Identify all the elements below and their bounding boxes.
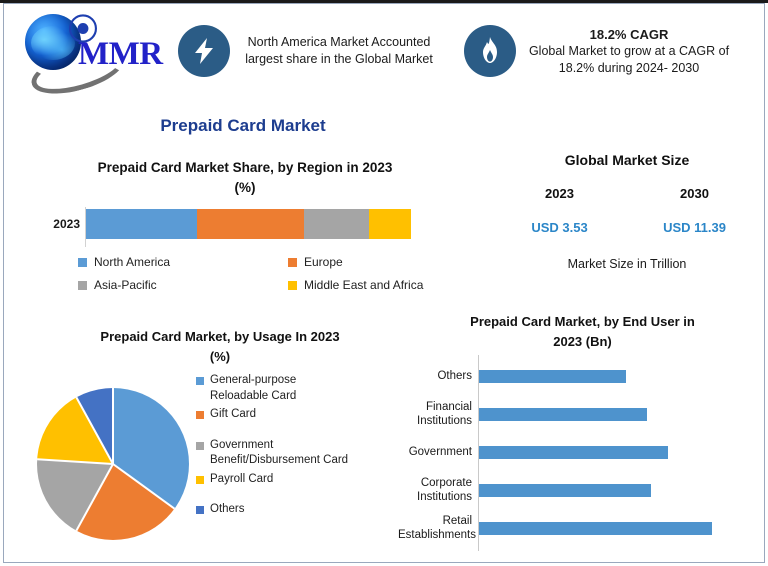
legend-swatch-icon: [196, 377, 204, 385]
legend-item-gift-card[interactable]: Gift Card: [196, 407, 411, 423]
end-user-bar: [479, 446, 668, 459]
end-user-row: RetailEstablishments: [398, 509, 758, 547]
legend-row: Asia-Pacific Middle East and Africa: [78, 278, 478, 292]
end-user-bar: [479, 408, 647, 421]
legend-spacer: [196, 426, 411, 438]
end-user-row: Others: [398, 357, 758, 395]
gms-value-2030: USD 11.39: [627, 220, 762, 235]
usage-pie-title-line: Prepaid Card Market, by Usage In 2023: [30, 327, 410, 347]
legend-label: Others: [210, 502, 245, 518]
header-highlight-cagr: 18.2% CAGR Global Market to grow at a CA…: [464, 25, 742, 77]
end-user-row: CorporateInstitutions: [398, 471, 758, 509]
end-user-bar: [479, 522, 712, 535]
legend-swatch-icon: [196, 442, 204, 450]
brand-logo[interactable]: ⦿ MMR: [5, 6, 170, 96]
global-market-size-title: Global Market Size: [492, 152, 762, 168]
end-user-bar-chart: OthersFinancialInstitutionsGovernmentCor…: [398, 355, 758, 553]
legend-swatch-icon: [196, 506, 204, 514]
end-user-row: FinancialInstitutions: [398, 395, 758, 433]
gms-value-2023: USD 3.53: [492, 220, 627, 235]
legend-swatch-icon: [196, 476, 204, 484]
region-share-title-line: Prepaid Card Market Share, by Region in …: [40, 158, 450, 178]
header-highlight-north-america: North America Market Accounted largest s…: [178, 25, 446, 77]
flame-icon: [464, 25, 516, 77]
legend-swatch-icon: [288, 258, 297, 267]
end-user-bar: [479, 484, 651, 497]
usage-pie-subtitle: (%): [30, 347, 410, 367]
gms-year-2030: 2030: [627, 186, 762, 201]
lightning-bolt-icon: [178, 25, 230, 77]
legend-label: GovernmentBenefit/Disbursement Card: [210, 438, 348, 469]
region-share-axis-label: 2023: [24, 217, 80, 231]
end-user-row: Government: [398, 433, 758, 471]
legend-spacer: [196, 490, 411, 502]
header-bar: ⦿ MMR North America Market Accounted lar…: [5, 5, 763, 97]
end-user-category-label: Government: [398, 445, 476, 459]
legend-item-others[interactable]: Others: [196, 502, 411, 518]
cagr-headline: 18.2% CAGR: [525, 26, 733, 43]
stacked-segment-asia-pacific: [304, 209, 369, 239]
cagr-line-1: Global Market to grow at a: [529, 44, 676, 58]
legend-item-europe[interactable]: Europe: [288, 255, 343, 269]
stacked-segment-middle-east-and-africa: [369, 209, 411, 239]
top-border: [0, 0, 768, 3]
global-market-size-note: Market Size in Trillion: [492, 257, 762, 271]
region-share-legend: North America Europe Asia-Pacific Middle…: [78, 255, 478, 301]
legend-label: Payroll Card: [210, 472, 273, 488]
legend-row: North America Europe: [78, 255, 478, 269]
legend-label: North America: [94, 255, 170, 269]
brand-name: MMR: [78, 36, 163, 73]
legend-swatch-icon: [196, 411, 204, 419]
end-user-title-line-2: 2023 (Bn): [410, 332, 755, 352]
usage-pie-legend: General-purposeReloadable CardGift CardG…: [196, 373, 411, 521]
stacked-segment-north-america: [86, 209, 197, 239]
legend-item-asia-pacific[interactable]: Asia-Pacific: [78, 278, 288, 292]
region-share-stacked-bar: [86, 209, 411, 239]
header-highlight-text: North America Market Accounted largest s…: [239, 34, 439, 68]
global-market-size-values: USD 3.53 USD 11.39: [492, 220, 762, 235]
legend-item-general-purpose-reloadable-card[interactable]: General-purposeReloadable Card: [196, 373, 411, 404]
global-market-size-years: 2023 2030: [492, 186, 762, 201]
legend-label: Gift Card: [210, 407, 256, 423]
legend-item-middle-east-africa[interactable]: Middle East and Africa: [288, 278, 423, 292]
pie-slice-separators: [37, 388, 189, 540]
region-share-title: Prepaid Card Market Share, by Region in …: [40, 158, 450, 198]
region-share-chart: 2023: [24, 207, 424, 247]
na-line-1: North America Market: [248, 35, 369, 49]
header-cagr-text: 18.2% CAGR Global Market to grow at a CA…: [525, 26, 733, 77]
gms-year-2023: 2023: [492, 186, 627, 201]
legend-item-government-benefit-disbursement-card[interactable]: GovernmentBenefit/Disbursement Card: [196, 438, 411, 469]
legend-label: Europe: [304, 255, 343, 269]
usage-pie-chart: [37, 388, 189, 540]
legend-item-payroll-card[interactable]: Payroll Card: [196, 472, 411, 488]
usage-pie-title: Prepaid Card Market, by Usage In 2023 (%…: [30, 327, 410, 367]
legend-swatch-icon: [78, 281, 87, 290]
legend-label: Middle East and Africa: [304, 278, 423, 292]
end-user-chart-title: Prepaid Card Market, by End User in 2023…: [410, 312, 755, 352]
stacked-segment-europe: [197, 209, 304, 239]
end-user-title-line-1: Prepaid Card Market, by End User in: [410, 312, 755, 332]
legend-swatch-icon: [78, 258, 87, 267]
na-line-3: Global Market: [355, 52, 433, 66]
legend-swatch-icon: [288, 281, 297, 290]
end-user-bar: [479, 370, 626, 383]
end-user-category-label: FinancialInstitutions: [398, 400, 476, 428]
end-user-category-label: Others: [398, 369, 476, 383]
legend-label: General-purposeReloadable Card: [210, 373, 296, 404]
legend-label: Asia-Pacific: [94, 278, 157, 292]
end-user-category-label: RetailEstablishments: [398, 514, 476, 542]
region-share-subtitle: (%): [40, 178, 450, 198]
infographic-page: ⦿ MMR North America Market Accounted lar…: [0, 0, 768, 566]
end-user-category-label: CorporateInstitutions: [398, 476, 476, 504]
legend-item-north-america[interactable]: North America: [78, 255, 288, 269]
cagr-line-3: 2030: [671, 61, 699, 75]
page-title: Prepaid Card Market: [0, 116, 486, 136]
